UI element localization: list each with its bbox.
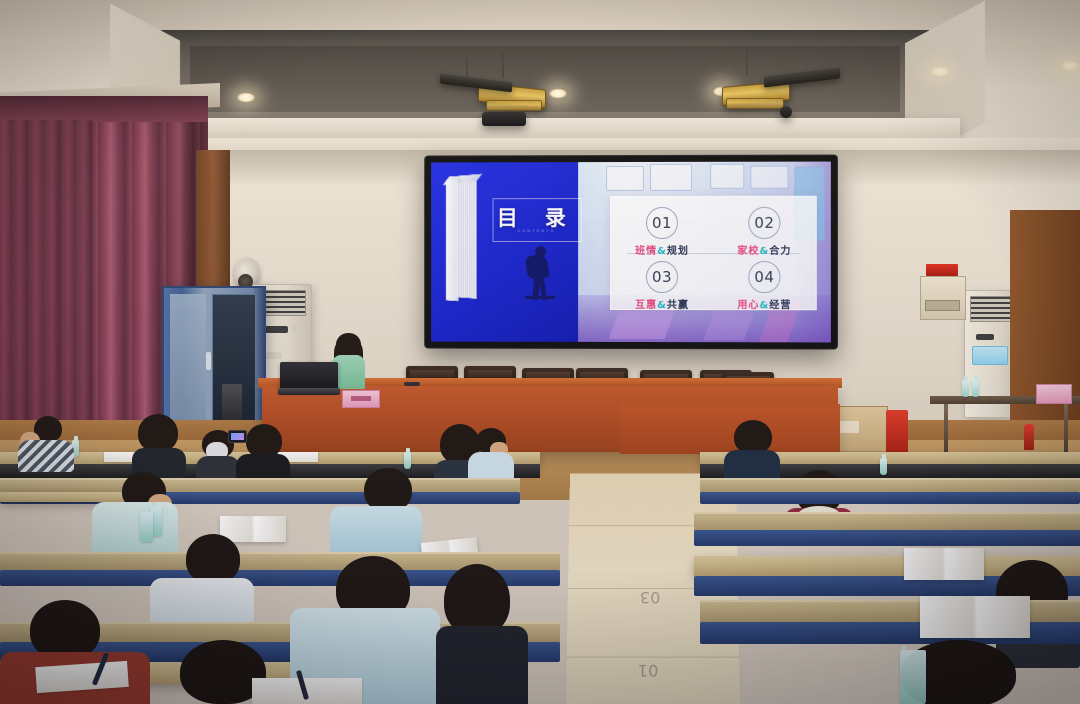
curtain-header: [0, 96, 208, 122]
display-surface: 目 录 CONTENTS 01 班情&规划 02 家校&合力 03 互惠: [431, 162, 831, 343]
item-number: 03: [646, 261, 678, 293]
stage-spotlight-barn-door: [726, 98, 784, 109]
audience-person: [468, 428, 514, 480]
contents-card: 01 班情&规划 02 家校&合力 03 互惠&共赢 04 用心&经营: [610, 196, 817, 310]
water-bottle[interactable]: [140, 512, 153, 542]
water-bottle[interactable]: [962, 380, 969, 397]
rack-server-unit: [222, 384, 242, 424]
presenter-laptop-base: [278, 388, 340, 395]
desk-blue-rail: [694, 530, 1080, 546]
item-number: 01: [646, 207, 678, 239]
bg-window-icon: [650, 164, 692, 191]
stage-spotlight-barn-door: [486, 100, 542, 111]
item-number: 04: [748, 261, 780, 293]
lecture-hall-photo: 目 录 CONTENTS 01 班情&规划 02 家校&合力 03 互惠: [0, 0, 1080, 704]
ac-vent-grill: [970, 296, 1014, 322]
smartphone[interactable]: [228, 430, 247, 443]
red-waste-bin: [886, 410, 908, 454]
item-label: 家校&合力: [713, 242, 816, 257]
item-label: 班情&规划: [611, 242, 713, 257]
downlight-icon: [930, 66, 950, 77]
led-display[interactable]: 目 录 CONTENTS 01 班情&规划 02 家校&合力 03 互惠: [425, 156, 837, 349]
water-bottle[interactable]: [880, 458, 887, 475]
light-hanger: [502, 52, 504, 78]
item-label: 互惠&共赢: [611, 296, 713, 311]
audience-person: [18, 416, 74, 468]
bg-window-icon: [710, 164, 744, 190]
ac-display-panel: [976, 334, 994, 340]
water-bottle[interactable]: [972, 380, 979, 397]
downlight-icon: [236, 92, 256, 103]
fire-cabinet-vent: [925, 300, 960, 311]
audience-person: [724, 420, 780, 478]
presenter-laptop[interactable]: [280, 362, 338, 390]
window-curtain-inner: [0, 120, 92, 460]
contents-item-04[interactable]: 04 用心&经营: [713, 261, 816, 311]
downlight-icon: [1060, 60, 1080, 71]
projector-icon: [482, 112, 526, 126]
bg-light-streak: [609, 310, 675, 339]
contents-item-01[interactable]: 01 班情&规划: [611, 207, 713, 257]
contents-item-03[interactable]: 03 互惠&共赢: [611, 261, 713, 311]
ac-display-panel: [264, 326, 288, 333]
audience-person-foreground: [436, 564, 528, 704]
water-bottle[interactable]: [404, 452, 411, 469]
reader-silhouette-icon: [523, 246, 557, 300]
audience-person: [150, 534, 254, 630]
ac-button[interactable]: [292, 324, 301, 333]
open-notebook[interactable]: [920, 596, 1030, 638]
table-leg: [1064, 404, 1068, 452]
audience-person-foreground: [860, 640, 1060, 704]
desk-blue-rail: [700, 492, 1080, 504]
bg-window-icon: [750, 165, 788, 189]
downlight-icon: [548, 88, 568, 99]
fire-extinguisher-icon[interactable]: [1024, 424, 1034, 450]
bench-back: [694, 512, 1080, 532]
ac-sanitize-sticker: [972, 346, 1008, 365]
rack-handle[interactable]: [206, 352, 211, 370]
item-label: 用心&经营: [713, 296, 816, 311]
fire-safety-sign-icon: [926, 264, 958, 276]
floor-row-number: 03: [640, 588, 660, 607]
contents-item-02[interactable]: 02 家校&合力: [713, 207, 816, 257]
item-number: 02: [748, 207, 780, 239]
bg-window-icon: [606, 166, 644, 191]
floor-row-number: 01: [638, 661, 659, 681]
wall-wood-panel-right: [1010, 210, 1080, 450]
book-illustration-icon: [446, 177, 485, 304]
open-notebook[interactable]: [904, 548, 984, 580]
water-bottle[interactable]: [900, 650, 926, 704]
light-hanger: [746, 48, 748, 74]
slide-heading-subtitle: CONTENTS: [493, 228, 581, 233]
rack-door-panel-left: [170, 294, 206, 428]
audience-person: [330, 468, 422, 552]
microphone-icon[interactable]: [404, 382, 420, 386]
table-leg: [944, 404, 948, 452]
fire-hose-cabinet[interactable]: [920, 276, 966, 320]
audience-person: [130, 414, 186, 472]
presenter-name-card: [342, 390, 380, 408]
floor-tile-line: [567, 657, 740, 658]
camera-icon: [780, 106, 792, 118]
pink-name-card[interactable]: [1036, 384, 1072, 404]
